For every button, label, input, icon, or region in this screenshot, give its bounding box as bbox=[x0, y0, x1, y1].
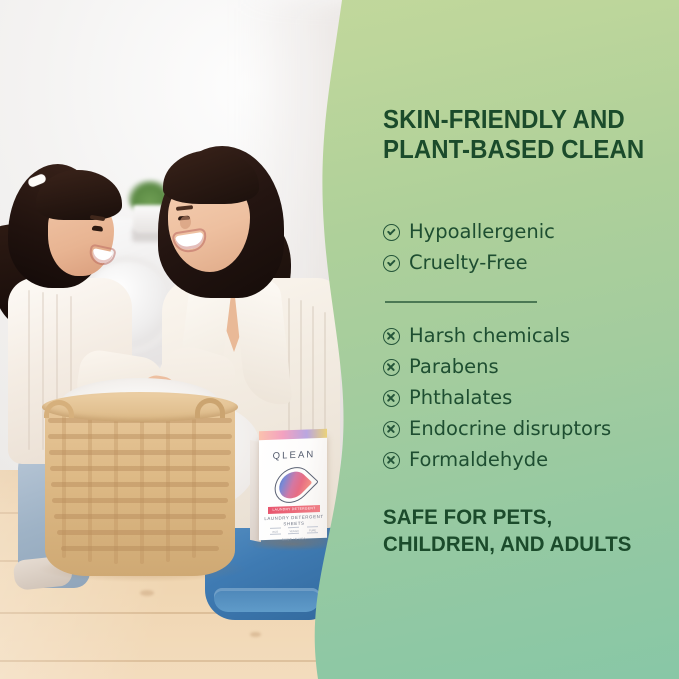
list-item-label: Cruelty-Free bbox=[409, 249, 528, 277]
list-item: Cruelty-Free bbox=[383, 249, 677, 277]
knit-texture-line bbox=[28, 290, 30, 450]
section-divider bbox=[385, 301, 537, 303]
list-item: Harsh chemicals bbox=[383, 322, 677, 350]
cross-circle-icon bbox=[383, 421, 400, 438]
basket-weave bbox=[114, 408, 118, 564]
list-item-label: Formaldehyde bbox=[409, 446, 548, 474]
list-item: Parabens bbox=[383, 353, 677, 381]
basket-weave bbox=[166, 410, 170, 562]
feature-badge: PURE bbox=[307, 526, 318, 533]
benefits-list: Hypoallergenic Cruelty-Free bbox=[383, 218, 677, 280]
list-item: Hypoallergenic bbox=[383, 218, 677, 246]
list-item-label: Parabens bbox=[409, 353, 499, 381]
list-item: Phthalates bbox=[383, 384, 677, 412]
basket-weave bbox=[88, 410, 92, 562]
cross-circle-icon bbox=[383, 328, 400, 345]
check-circle-icon bbox=[383, 224, 400, 241]
basket-weave bbox=[192, 412, 196, 558]
product-feature-badges: ECO VEGAN PURE bbox=[266, 526, 322, 535]
list-item-label: Endocrine disruptors bbox=[409, 415, 611, 443]
knit-texture-line bbox=[42, 292, 44, 450]
main-headline: SKIN-FRIENDLY AND PLANT-BASED CLEAN bbox=[383, 105, 656, 165]
free-from-list: Harsh chemicals Parabens Phthalates Endo… bbox=[383, 322, 677, 477]
basket-weave bbox=[140, 408, 144, 564]
panel-content: SKIN-FRIENDLY AND PLANT-BASED CLEAN Hypo… bbox=[383, 0, 679, 679]
cross-circle-icon bbox=[383, 452, 400, 469]
basket-weave bbox=[62, 412, 66, 558]
woman-jeans-hem bbox=[214, 588, 320, 612]
check-circle-icon bbox=[383, 255, 400, 272]
list-item-label: Phthalates bbox=[409, 384, 512, 412]
cross-circle-icon bbox=[383, 359, 400, 376]
list-item: Formaldehyde bbox=[383, 446, 677, 474]
cross-circle-icon bbox=[383, 390, 400, 407]
feature-badge: ECO bbox=[270, 528, 281, 535]
list-item-label: Hypoallergenic bbox=[409, 218, 555, 246]
product-brand-name: QLEAN bbox=[266, 449, 322, 462]
feature-badge: VEGAN bbox=[288, 527, 299, 534]
list-item: Endocrine disruptors bbox=[383, 415, 677, 443]
product-infographic: QLEAN LAUNDRY DETERGENT LAUNDRY DETERGEN… bbox=[0, 0, 679, 679]
footer-headline: SAFE FOR PETS, CHILDREN, AND ADULTS bbox=[383, 504, 660, 558]
list-item-label: Harsh chemicals bbox=[409, 322, 570, 350]
